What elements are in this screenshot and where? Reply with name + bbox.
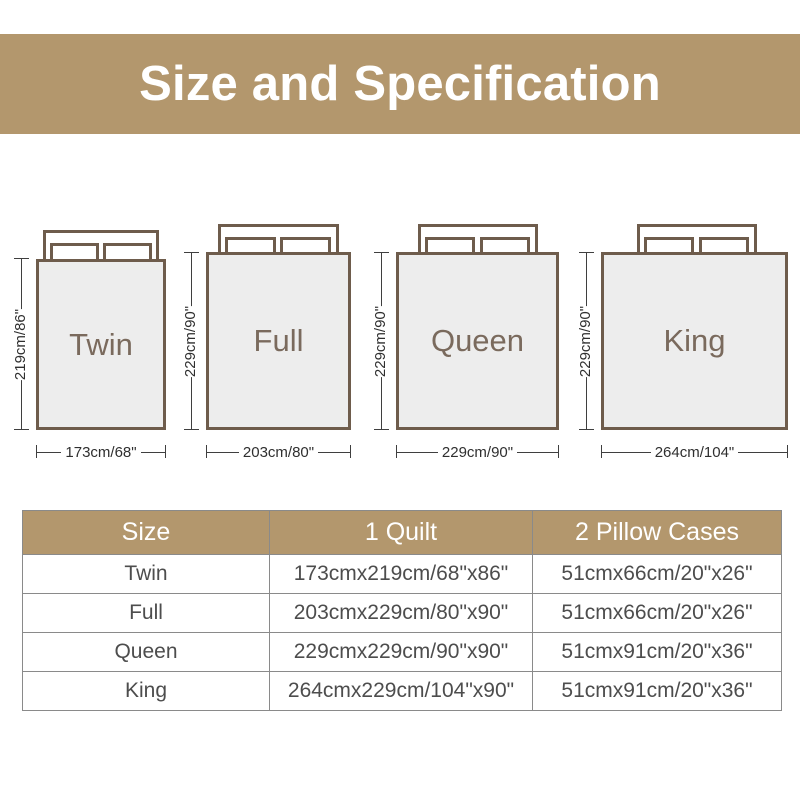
twin-pillow-right [103,243,152,260]
dimension-cap-top [374,252,389,253]
dimension-cap-bottom [184,429,199,430]
twin-label: Twin [69,327,133,363]
king-height-label: 229cm/90" [576,305,597,376]
dimension-cap-bottom [579,429,594,430]
king-label: King [663,323,725,359]
full-width-label: 203cm/80" [239,445,318,460]
twin-mattress: Twin [36,259,166,430]
cell-quilt: 173cmx219cm/68"x86" [270,555,533,594]
cell-quilt: 229cmx229cm/90"x90" [270,633,533,672]
table-body: Twin 173cmx219cm/68"x86" 51cmx66cm/20"x2… [23,555,782,711]
bed-diagram-king: 229cm/90" King 264cm/104" [575,222,800,462]
header-banner: Size and Specification [0,34,800,134]
specification-table: Size 1 Quilt 2 Pillow Cases Twin 173cmx2… [22,510,782,711]
table-header-row: Size 1 Quilt 2 Pillow Cases [23,511,782,555]
dimension-cap-right [787,445,788,458]
cell-quilt: 203cmx229cm/80"x90" [270,594,533,633]
bed-diagram-queen: 229cm/90" Queen 229cm/90" [370,222,575,462]
king-width-label: 264cm/104" [651,445,739,460]
dimension-cap-left [206,445,207,458]
column-header-pillow-cases: 2 Pillow Cases [533,511,782,555]
full-height-label: 229cm/90" [181,305,202,376]
table-row: Queen 229cmx229cm/90"x90" 51cmx91cm/20"x… [23,633,782,672]
full-mattress: Full [206,252,351,430]
full-width-dimension: 203cm/80" [206,442,351,462]
dimension-cap-right [165,445,166,458]
cell-quilt: 264cmx229cm/104"x90" [270,672,533,711]
dimension-cap-left [601,445,602,458]
cell-size: Twin [23,555,270,594]
queen-bed-drawing: Queen [396,224,559,430]
dimension-cap-top [579,252,594,253]
column-header-quilt: 1 Quilt [270,511,533,555]
dimension-cap-left [396,445,397,458]
king-mattress: King [601,252,788,430]
cell-pillow: 51cmx91cm/20"x36" [533,633,782,672]
king-height-dimension: 229cm/90" [575,252,597,430]
table-row: King 264cmx229cm/104"x90" 51cmx91cm/20"x… [23,672,782,711]
twin-width-dimension: 173cm/68" [36,442,166,462]
cell-size: King [23,672,270,711]
dimension-cap-bottom [14,429,29,430]
cell-pillow: 51cmx66cm/20"x26" [533,594,782,633]
queen-width-label: 229cm/90" [438,445,517,460]
queen-mattress: Queen [396,252,559,430]
queen-height-label: 229cm/90" [371,305,392,376]
table-row: Full 203cmx229cm/80"x90" 51cmx66cm/20"x2… [23,594,782,633]
dimension-cap-top [14,258,29,259]
cell-pillow: 51cmx91cm/20"x36" [533,672,782,711]
table-header: Size 1 Quilt 2 Pillow Cases [23,511,782,555]
twin-width-label: 173cm/68" [61,445,140,460]
twin-height-label: 219cm/86" [11,308,32,379]
queen-height-dimension: 229cm/90" [370,252,392,430]
dimension-cap-top [184,252,199,253]
full-label: Full [254,323,304,359]
twin-bed-drawing: Twin [36,230,166,430]
column-header-size: Size [23,511,270,555]
king-width-dimension: 264cm/104" [601,442,788,462]
queen-label: Queen [431,323,524,359]
dimension-cap-left [36,445,37,458]
twin-pillow-left [50,243,99,260]
full-height-dimension: 229cm/90" [180,252,202,430]
dimension-cap-right [558,445,559,458]
dimension-cap-bottom [374,429,389,430]
cell-size: Full [23,594,270,633]
queen-width-dimension: 229cm/90" [396,442,559,462]
bed-diagram-full: 229cm/90" Full 203cm/80" [180,222,370,462]
full-bed-drawing: Full [206,224,351,430]
cell-pillow: 51cmx66cm/20"x26" [533,555,782,594]
king-bed-drawing: King [601,224,788,430]
bed-diagram-twin: 219cm/86" Twin 173cm/68" [10,222,180,462]
page-title: Size and Specification [139,56,661,112]
dimension-cap-right [350,445,351,458]
twin-height-dimension: 219cm/86" [10,258,32,430]
table-row: Twin 173cmx219cm/68"x86" 51cmx66cm/20"x2… [23,555,782,594]
bed-diagram-group: 219cm/86" Twin 173cm/68" 229cm/90" [0,222,800,462]
cell-size: Queen [23,633,270,672]
